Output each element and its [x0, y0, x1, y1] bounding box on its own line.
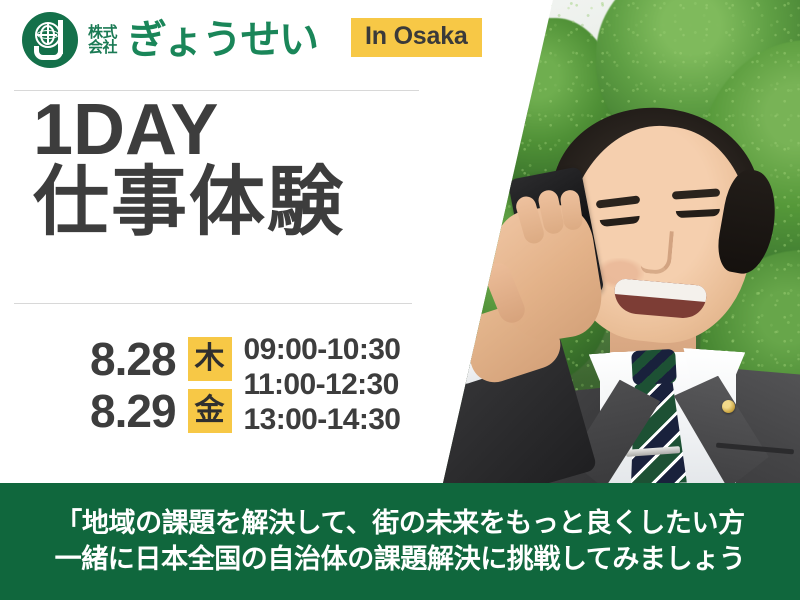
logo-g-tail [34, 46, 63, 60]
date-1: 8.28 [90, 336, 176, 383]
company-prefix: 株式 会社 [88, 25, 117, 56]
headline-line1: 1DAY [33, 96, 345, 165]
date-2: 8.29 [90, 388, 176, 435]
page-title: 1DAY 仕事体験 [33, 96, 345, 240]
time-slot-3: 13:00-14:30 [244, 403, 401, 438]
company-name: ぎょうせい [127, 20, 318, 60]
brand-lockup: 株式 会社 ぎょうせい [22, 12, 318, 68]
day-badge-2: 金 [188, 389, 232, 433]
time-slots: 09:00-10:30 11:00-12:30 13:00-14:30 [244, 333, 401, 437]
day-badge-1: 木 [188, 337, 232, 381]
location-badge: In Osaka [351, 18, 482, 57]
left-content-panel: 株式 会社 ぎょうせい In Osaka 1DAY 仕事体験 8.28 木 09… [0, 0, 470, 483]
tagline-line1: 「地域の課題を解決して、街の未来をもっと良くしたい方 [55, 508, 744, 539]
company-prefix-line2: 会社 [88, 40, 117, 55]
tagline-line2: 一緒に日本全国の自治体の課題解決に挑戦してみましょう [55, 544, 746, 575]
divider-bottom [14, 303, 412, 304]
tie-knot [631, 349, 677, 385]
company-prefix-line1: 株式 [88, 25, 117, 40]
time-slot-2: 11:00-12:30 [244, 368, 401, 403]
schedule-block: 8.28 木 09:00-10:30 11:00-12:30 13:00-14:… [90, 333, 400, 437]
promo-banner: 株式 会社 ぎょうせい In Osaka 1DAY 仕事体験 8.28 木 09… [0, 0, 800, 600]
time-slot-1: 09:00-10:30 [244, 333, 401, 368]
headline-line2: 仕事体験 [33, 167, 345, 240]
tagline-banner: 「地域の課題を解決して、街の未来をもっと良くしたい方 一緒に日本全国の自治体の課… [0, 483, 800, 600]
lapel-pin-icon [722, 400, 735, 413]
globe-g-logo-icon [22, 12, 78, 68]
